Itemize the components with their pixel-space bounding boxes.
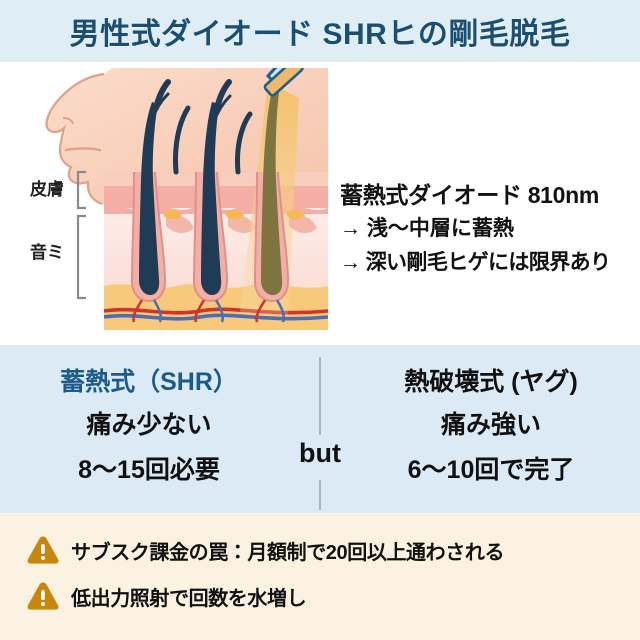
- infographic-page: 男性式ダイオード SHRヒの剛毛脱毛: [0, 0, 640, 640]
- comparison-column-shr: 蓄熱式（SHR） 痛み少ない 8〜15回必要: [4, 345, 294, 513]
- depth-label-group: 皮膚 音ミ: [16, 68, 134, 330]
- warning-text: 低出力照射で回数を水増し: [71, 582, 306, 611]
- comparison-section: 蓄熱式（SHR） 痛み少ない 8〜15回必要 but 熱破壊式 (ヤグ) 痛み強…: [0, 345, 640, 513]
- skin-cross-section-diagram: 皮膚 音ミ: [16, 68, 328, 330]
- warning-triangle-icon: [26, 534, 60, 566]
- yag-heading: 熱破壊式 (ヤグ): [404, 363, 578, 401]
- comparison-divider-top: [319, 357, 321, 435]
- warnings-section: サブスク課金の罠：月額制で20回以上通わされる 低出力照射で回数を水増し: [0, 513, 640, 640]
- warning-text: サブスク課金の罠：月額制で20回以上通わされる: [71, 536, 504, 565]
- warning-item: サブスク課金の罠：月額制で20回以上通わされる: [26, 534, 504, 566]
- hero-line-limit: → 深い剛毛ヒゲには限界あり: [340, 246, 636, 280]
- warning-triangle-icon: [26, 580, 60, 612]
- comparison-column-yag: 熱破壊式 (ヤグ) 痛み強い 6〜10回で完了: [346, 345, 636, 513]
- shr-heading: 蓄熱式（SHR）: [60, 363, 238, 401]
- depth-brackets-icon: [16, 68, 328, 330]
- hero-text-block: 蓄熱式ダイオード 810nm → 浅〜中層に蓄熱 → 深い剛毛ヒゲには限界あり: [340, 178, 636, 280]
- warning-item: 低出力照射で回数を水増し: [26, 580, 306, 612]
- hero-section: 皮膚 音ミ 蓄熱式ダイオード 810nm → 浅〜中層に蓄熱 → 深い剛毛ヒゲに…: [0, 62, 640, 345]
- hero-line-depth: → 浅〜中層に蓄熱: [340, 212, 636, 246]
- header-band: 男性式ダイオード SHRヒの剛毛脱毛: [0, 0, 640, 62]
- page-title: 男性式ダイオード SHRヒの剛毛脱毛: [70, 9, 571, 53]
- yag-sessions-text: 6〜10回で完了: [408, 450, 575, 491]
- hero-line-wavelength: 蓄熱式ダイオード 810nm: [340, 178, 636, 212]
- comparison-divider-bottom: [319, 480, 321, 510]
- yag-pain-text: 痛み強い: [441, 405, 541, 446]
